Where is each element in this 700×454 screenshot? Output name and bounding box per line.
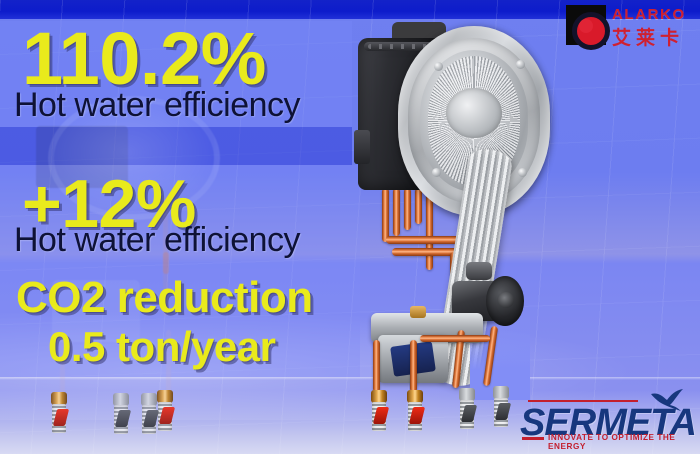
sermeta-bottom-rule — [522, 437, 544, 440]
background-horizon-line — [0, 377, 700, 380]
pump-neck — [466, 262, 492, 280]
manifold-brass-port — [410, 306, 426, 318]
sermeta-tagline: INNOVATE TO OPTIMIZE THE ENERGY — [548, 433, 696, 451]
shell-bolt-1 — [434, 62, 443, 71]
pump-hub — [498, 292, 514, 308]
copper-riser-2 — [393, 188, 400, 236]
fitting-2 — [406, 390, 424, 432]
fitting-ghost-4 — [140, 393, 158, 435]
fitting-4 — [492, 386, 510, 428]
co2-reduction-line1: CO2 reduction — [16, 275, 313, 321]
alarko-target-icon — [566, 5, 606, 45]
fitting-1 — [370, 390, 388, 432]
fitting-ghost-1 — [50, 392, 68, 434]
sermeta-logo: SERMETA INNOVATE TO OPTIMIZE THE ENERGY — [520, 388, 696, 450]
copper-drop-2 — [410, 340, 417, 392]
copper-drop-1 — [373, 340, 380, 392]
shell-bolt-3 — [432, 168, 441, 177]
co2-reduction-line2: 0.5 ton/year — [48, 325, 275, 369]
shell-bolt-2 — [516, 60, 525, 69]
stat-label-secondary: Hot water efficiency — [14, 223, 300, 257]
copper-riser-3 — [404, 188, 411, 230]
fitting-3 — [458, 388, 476, 430]
copper-riser-4 — [415, 188, 422, 224]
stat-label-primary: Hot water efficiency — [14, 88, 300, 122]
alarko-logo: ALARKO 艾莱卡 — [566, 4, 694, 46]
slide-canvas: 110.2% Hot water efficiency +12% Hot wat… — [0, 0, 700, 454]
shell-bolt-4 — [518, 168, 527, 177]
copper-lateral — [420, 335, 490, 342]
alarko-chinese-name: 艾莱卡 — [612, 23, 684, 50]
alarko-wordmark: ALARKO — [612, 6, 686, 23]
stat-value-primary: 110.2% — [22, 22, 266, 96]
copper-riser-1 — [382, 188, 389, 242]
fitting-ghost-3 — [112, 393, 130, 435]
